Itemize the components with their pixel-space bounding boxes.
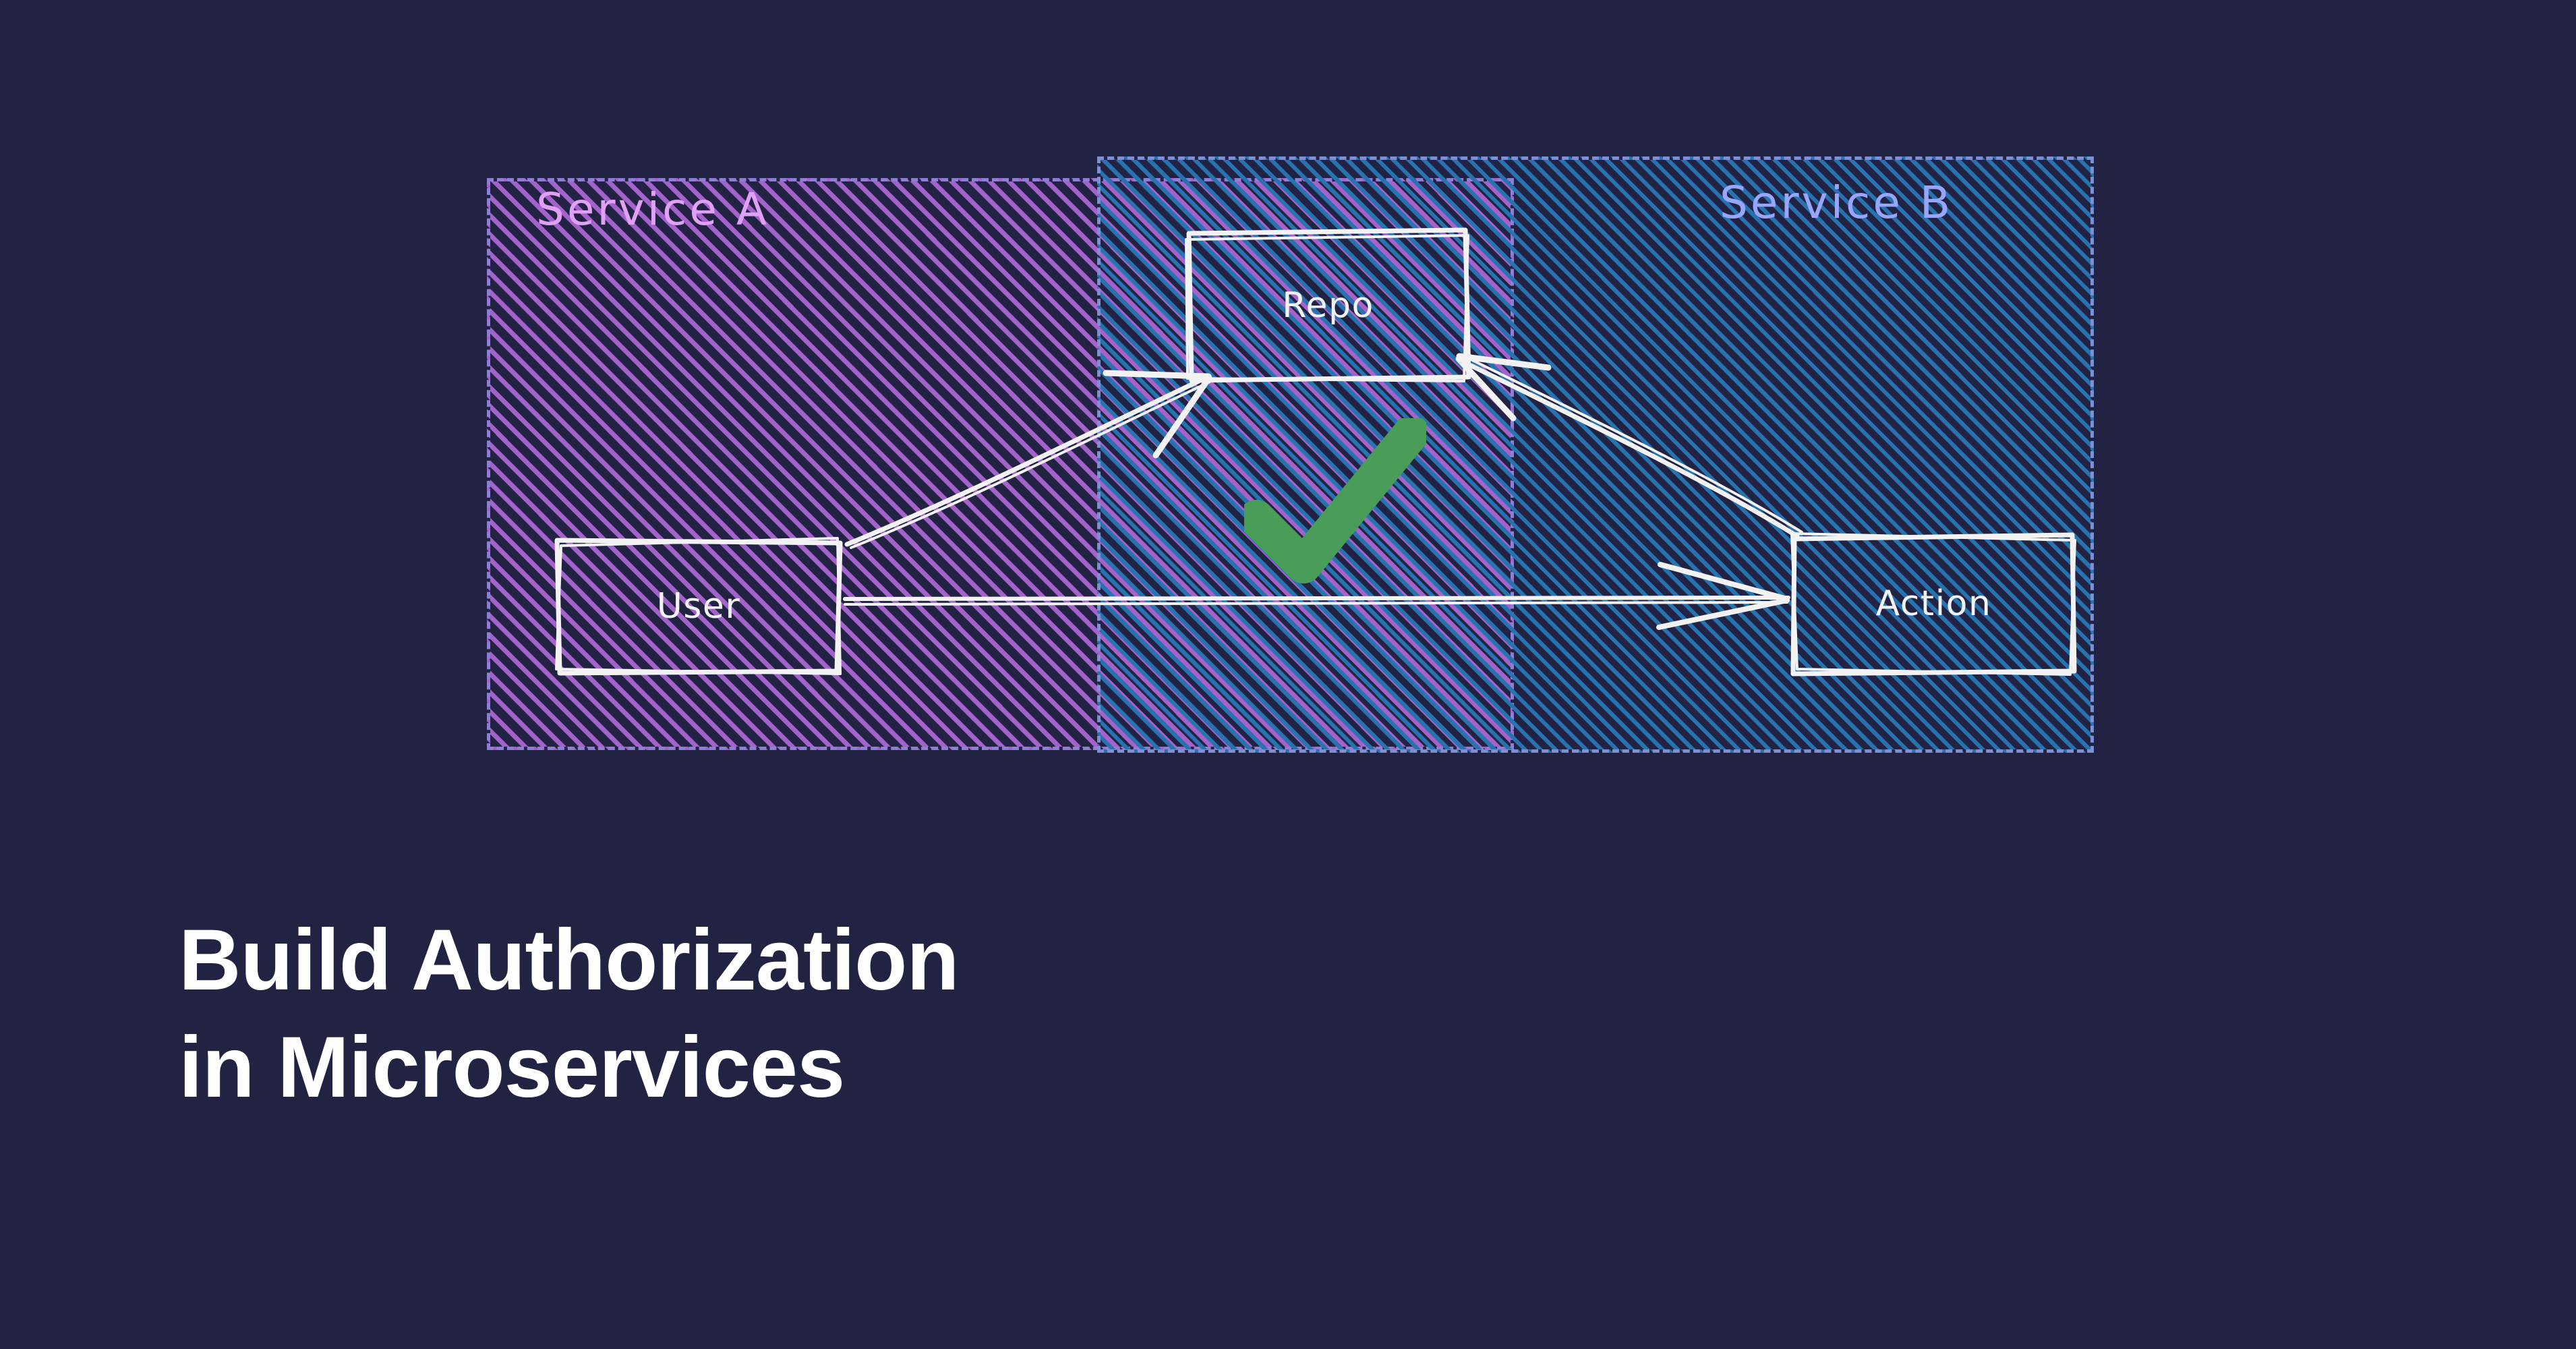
page-title: Build Authorization in Microservices bbox=[179, 907, 1662, 1121]
region-label-service-b: Service B bbox=[1720, 177, 1953, 229]
node-user-label: User bbox=[554, 536, 843, 677]
node-repo[interactable]: Repo bbox=[1185, 227, 1471, 384]
page-title-line-1: Build Authorization bbox=[179, 907, 1662, 1014]
poster-canvas: Service A Service B bbox=[0, 0, 2576, 1349]
node-action[interactable]: Action bbox=[1790, 531, 2077, 677]
check-icon bbox=[1244, 418, 1426, 594]
page-title-line-2: in Microservices bbox=[179, 1014, 1662, 1122]
region-label-service-a: Service A bbox=[536, 183, 769, 235]
node-repo-label: Repo bbox=[1185, 227, 1471, 384]
node-action-label: Action bbox=[1790, 531, 2077, 677]
node-user[interactable]: User bbox=[554, 536, 843, 677]
